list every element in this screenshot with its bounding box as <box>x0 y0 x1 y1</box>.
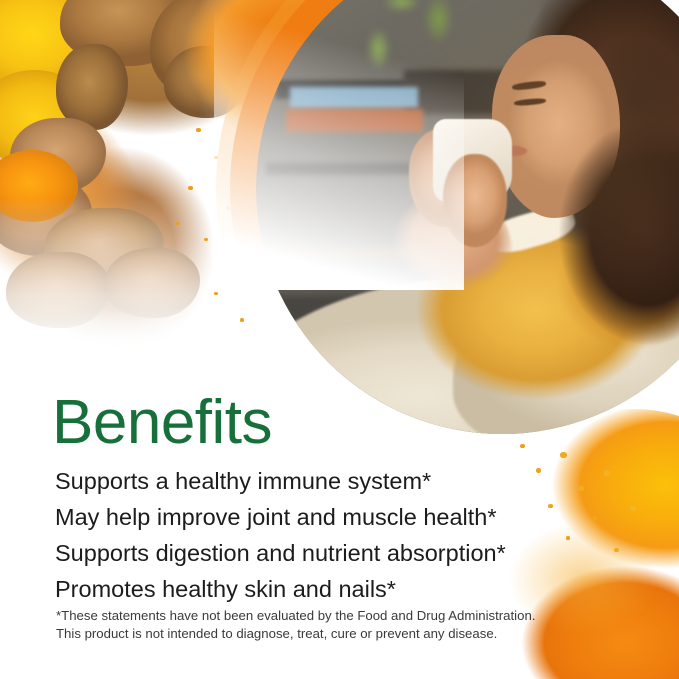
powder-grain <box>188 186 193 190</box>
powder-grain <box>548 504 553 508</box>
powder-grain <box>214 292 218 295</box>
powder-grain <box>604 470 610 476</box>
powder-grain <box>592 516 597 521</box>
powder-grain <box>240 318 244 322</box>
infographic-canvas: Benefits Supports a healthy immune syste… <box>0 0 679 679</box>
disclaimer-line-1: *These statements have not been evaluate… <box>56 607 535 625</box>
powder-grain <box>536 468 541 473</box>
benefit-item-1: Supports a healthy immune system* <box>55 470 431 494</box>
powder-grain <box>566 536 570 540</box>
powder-grain <box>578 486 584 491</box>
warm-light-overlay <box>256 0 679 434</box>
powder-grain <box>196 128 201 132</box>
benefit-item-4: Promotes healthy skin and nails* <box>55 578 396 602</box>
page-title: Benefits <box>52 392 272 454</box>
powder-grain <box>560 452 567 458</box>
woman-drinking-tea-photo <box>256 0 679 434</box>
benefit-item-2: May help improve joint and muscle health… <box>55 506 497 530</box>
powder-grain <box>226 206 230 210</box>
powder-grain <box>232 262 237 266</box>
benefit-item-3: Supports digestion and nutrient absorpti… <box>55 542 506 566</box>
powder-grain <box>614 548 619 552</box>
powder-grain <box>204 238 208 241</box>
powder-grain <box>630 506 636 511</box>
powder-grain <box>214 156 218 159</box>
disclaimer-line-2: This product is not intended to diagnose… <box>56 625 535 643</box>
powder-grain <box>520 444 525 448</box>
powder-grain <box>176 222 180 225</box>
disclaimer: *These statements have not been evaluate… <box>56 607 535 642</box>
